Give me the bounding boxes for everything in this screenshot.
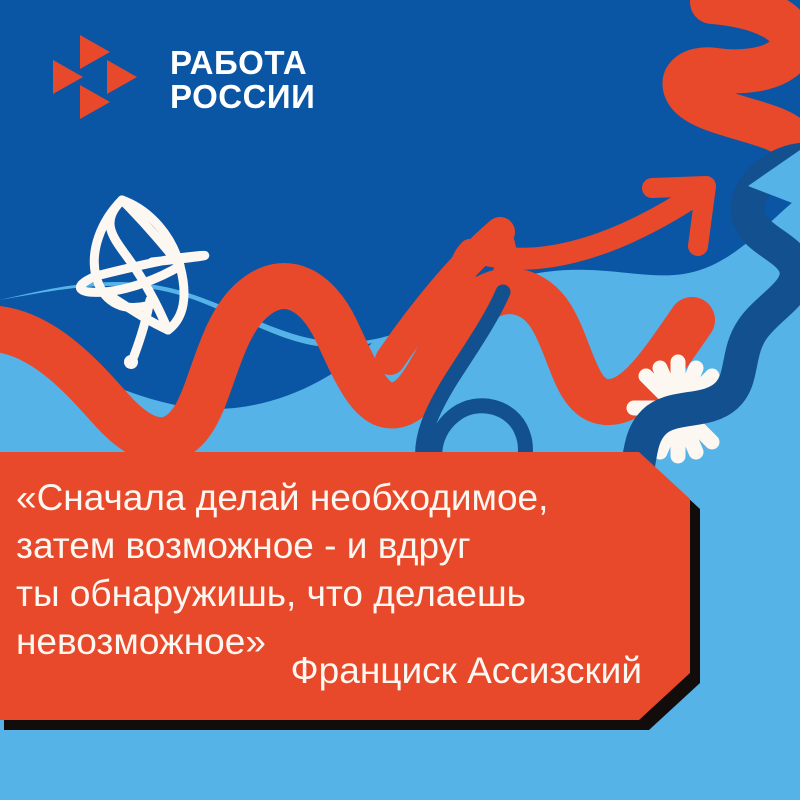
rabota-rossii-triangles-icon bbox=[52, 34, 148, 126]
brand-logo[interactable]: РАБОТА РОССИИ bbox=[52, 34, 315, 126]
poster-canvas: РАБОТА РОССИИ «Сначала делай необходимое… bbox=[0, 0, 800, 800]
brand-logo-text: РАБОТА РОССИИ bbox=[170, 46, 315, 113]
brand-logo-line2: РОССИИ bbox=[170, 80, 315, 114]
brand-logo-line1: РАБОТА bbox=[170, 46, 315, 80]
quote-author: Франциск Ассизский bbox=[291, 650, 642, 692]
quote-banner: «Сначала делай необходимое, затем возмож… bbox=[0, 452, 700, 720]
quote-text: «Сначала делай необходимое, затем возмож… bbox=[16, 474, 656, 666]
